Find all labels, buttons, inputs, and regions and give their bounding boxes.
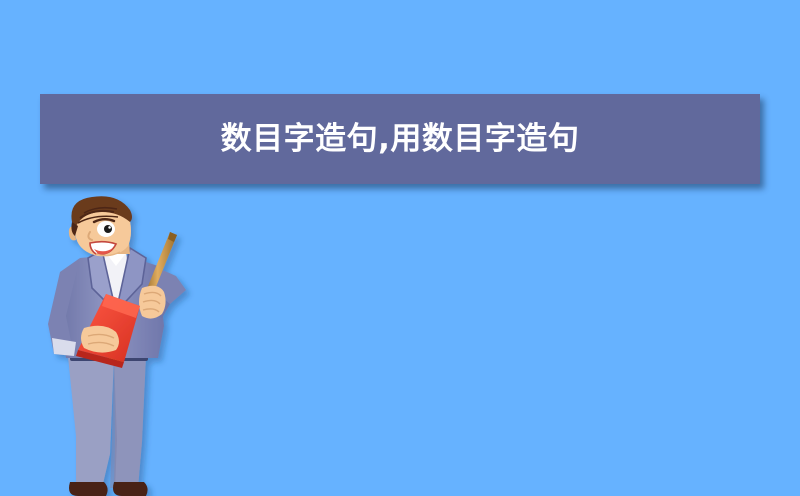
shoes-group	[69, 482, 148, 496]
right-trouser-leg	[114, 356, 146, 488]
right-shoe	[113, 482, 148, 496]
legs-group	[68, 356, 146, 488]
slide-canvas: 数目字造句,用数目字造句	[0, 0, 800, 496]
teacher-body-group	[48, 196, 186, 496]
pointer-hand-group	[139, 286, 166, 319]
eye-pupil	[104, 225, 112, 233]
teacher-figure-svg	[18, 196, 218, 496]
left-shoe	[69, 482, 108, 496]
teacher-illustration	[18, 196, 218, 496]
right-hand	[139, 286, 166, 319]
title-banner: 数目字造句,用数目字造句	[40, 94, 760, 184]
left-trouser-leg	[68, 356, 114, 488]
page-title: 数目字造句,用数目字造句	[221, 124, 580, 155]
head-group	[69, 196, 132, 256]
eye-highlight	[108, 226, 111, 229]
